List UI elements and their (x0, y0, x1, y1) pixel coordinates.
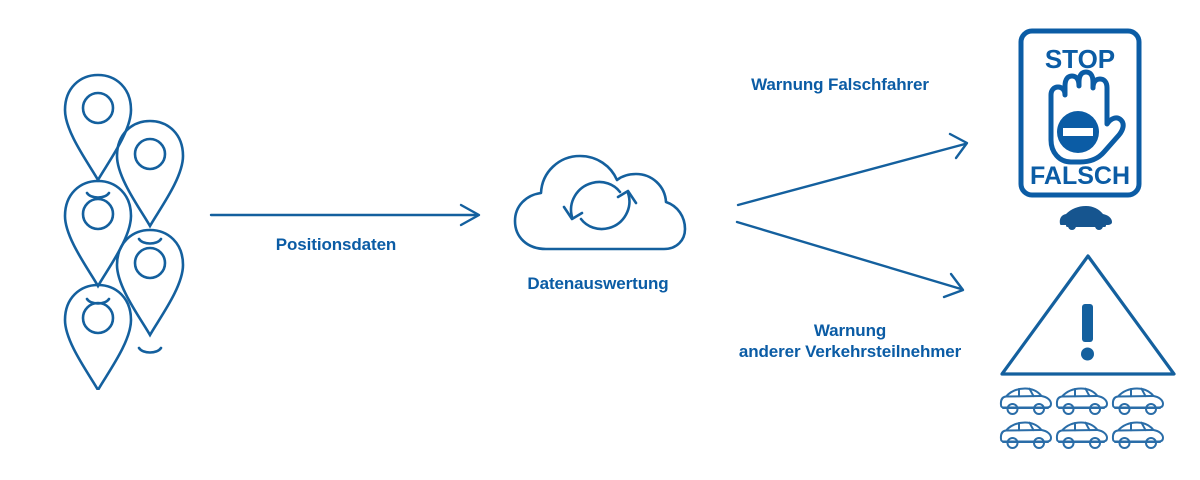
warning-triangle-group (996, 250, 1180, 380)
flow-positionsdaten-arrow (205, 200, 495, 230)
stop-falsch-sign-group: STOP FALSCH (1018, 28, 1146, 200)
map-pin-icon (65, 285, 131, 390)
map-pin-icon (117, 121, 183, 244)
wrong-way-car-icon-group (1058, 205, 1114, 231)
other-road-users-cars-group (997, 386, 1167, 454)
diagram-canvas: Positionsdaten Datenauswertung (0, 0, 1200, 480)
no-entry-icon (1057, 111, 1099, 153)
flow-warnung-andere-label-line1: Warnung (717, 320, 983, 341)
car-outline-icon (1001, 423, 1051, 449)
car-outline-icon (1057, 389, 1107, 415)
data-evaluation-icon-group (510, 145, 690, 270)
warning-triangle-icon (1002, 256, 1174, 374)
position-sources-group (25, 60, 215, 390)
car-filled-icon (1060, 206, 1112, 230)
car-outline-icon (1057, 423, 1107, 449)
car-outline-icon (1113, 423, 1163, 449)
flow-positionsdaten-label: Positionsdaten (276, 234, 396, 255)
exclamation-mark-icon (1081, 304, 1094, 361)
sign-bottom-text: FALSCH (1030, 162, 1130, 190)
flow-warnung-andere-arrow (737, 222, 963, 297)
flow-warnung-falschfahrer-arrow (738, 134, 967, 205)
flow-warnung-andere-label: Warnung anderer Verkehrsteilnehmer (717, 320, 983, 362)
cloud-sync-icon (515, 156, 685, 249)
stop-falsch-sign-icon: STOP FALSCH (1021, 31, 1139, 195)
map-pin-icon (117, 230, 183, 353)
flow-branch-arrows (725, 125, 985, 310)
sign-top-text: STOP (1045, 44, 1115, 74)
flow-warnung-falschfahrer-label: Warnung Falschfahrer (751, 74, 929, 95)
car-outline-icon (1113, 389, 1163, 415)
car-outline-icon (1001, 389, 1051, 415)
flow-warnung-andere-label-line2: anderer Verkehrsteilnehmer (717, 341, 983, 362)
data-evaluation-label: Datenauswertung (527, 273, 668, 294)
